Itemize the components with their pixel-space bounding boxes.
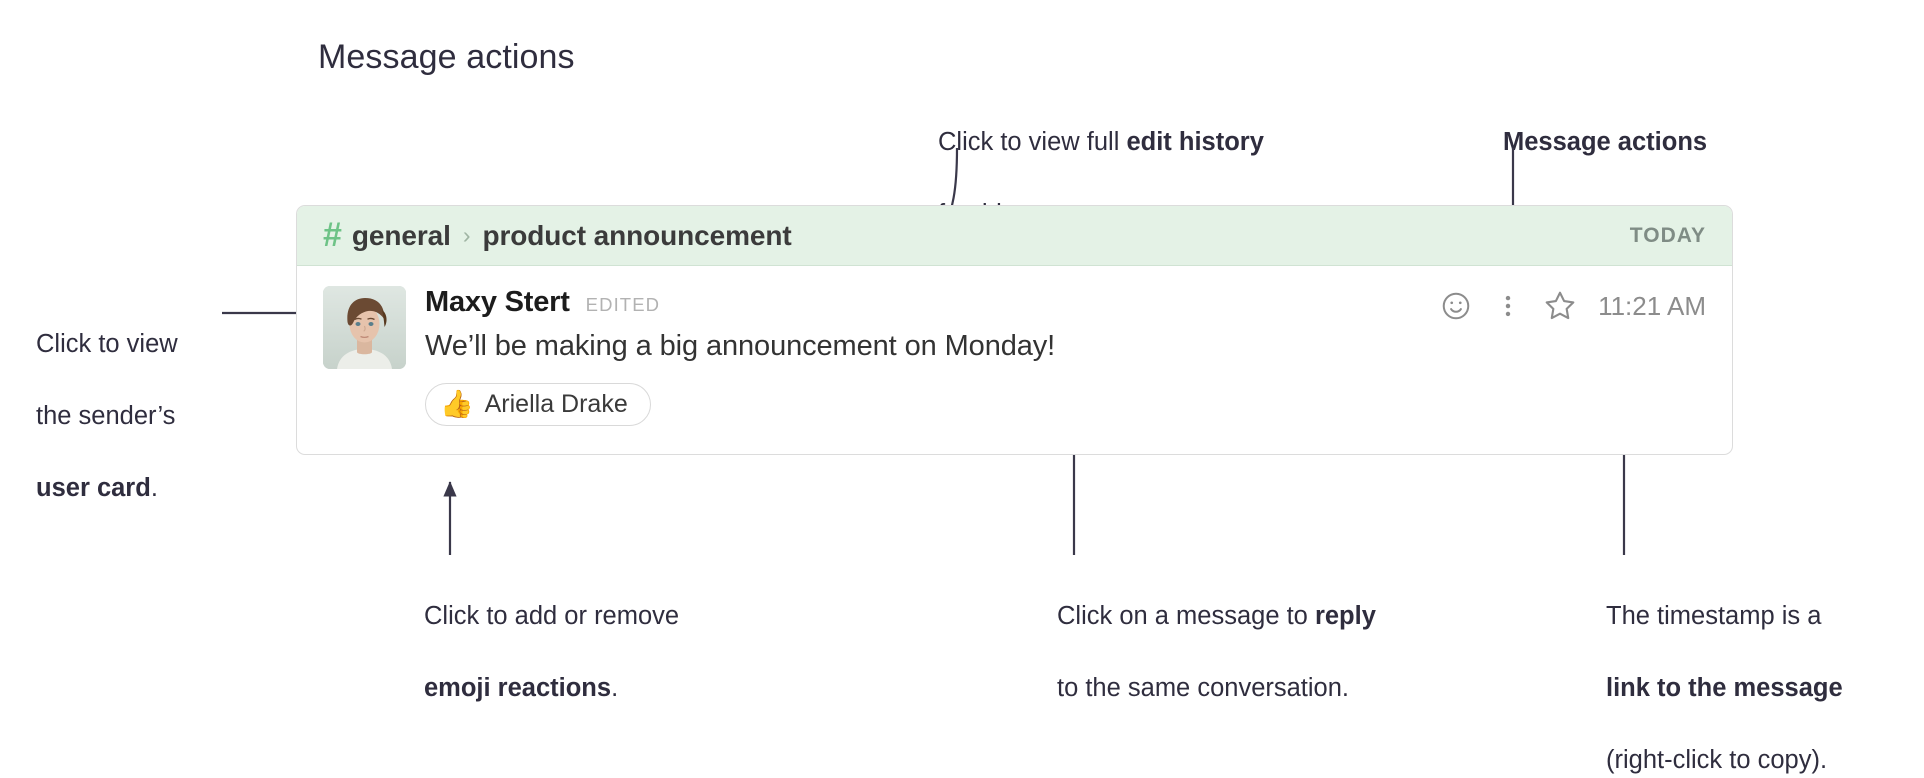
breadcrumb-topic-name[interactable]: product announcement bbox=[483, 220, 792, 252]
message-timestamp-link[interactable]: 11:21 AM bbox=[1598, 291, 1706, 322]
reaction-pill[interactable]: 👍 Ariella Drake bbox=[425, 383, 651, 426]
message-card: # general › product announcement TODAY bbox=[296, 205, 1733, 455]
breadcrumb-stream-name[interactable]: general bbox=[352, 220, 451, 252]
emoji-reaction-icon[interactable] bbox=[1430, 284, 1482, 328]
hash-icon: # bbox=[323, 218, 342, 252]
edited-badge[interactable]: EDITED bbox=[586, 294, 660, 316]
annotation-reply: Click on a message to reply to the same … bbox=[1057, 562, 1457, 706]
stream-topic-header: # general › product announcement TODAY bbox=[297, 206, 1732, 266]
annotation-edit-history-line1: Click to view full bbox=[938, 128, 1126, 156]
reaction-label: Ariella Drake bbox=[485, 390, 628, 419]
avatar[interactable] bbox=[323, 286, 406, 369]
annotation-user-card: Click to view the sender’s user card. bbox=[36, 290, 266, 506]
thumbs-up-icon: 👍 bbox=[440, 391, 474, 418]
message-actions-group: 11:21 AM bbox=[1430, 284, 1706, 328]
vertical-ellipsis-icon[interactable] bbox=[1482, 284, 1534, 328]
sender-name[interactable]: Maxy Stert bbox=[425, 286, 570, 319]
date-label-today: TODAY bbox=[1630, 224, 1706, 248]
annotation-timestamp-line1: The timestamp is a bbox=[1606, 602, 1821, 630]
chevron-right-icon: › bbox=[463, 222, 471, 249]
page-title: Message actions bbox=[318, 38, 575, 77]
avatar-photo bbox=[323, 286, 406, 369]
annotation-message-actions-bold: Message actions bbox=[1503, 128, 1707, 156]
message-body-text[interactable]: We’ll be making a big announcement on Mo… bbox=[425, 330, 1706, 363]
annotation-user-card-line3-bold: user card bbox=[36, 474, 151, 502]
annotation-timestamp-line3: (right-click to copy). bbox=[1606, 746, 1827, 774]
annotation-user-card-line3-tail: . bbox=[151, 474, 158, 502]
annotation-emoji-tail: . bbox=[611, 674, 618, 702]
annotation-user-card-line2: the sender’s bbox=[36, 402, 175, 430]
star-outline-icon[interactable] bbox=[1534, 284, 1586, 328]
annotation-reply-bold: reply bbox=[1315, 602, 1376, 630]
annotation-emoji-reactions: Click to add or remove emoji reactions. bbox=[424, 562, 764, 706]
annotation-emoji-line1: Click to add or remove bbox=[424, 602, 679, 630]
annotation-reply-line1: Click on a message to bbox=[1057, 602, 1315, 630]
reactions-row: 👍 Ariella Drake bbox=[297, 369, 1732, 426]
annotation-reply-line2: to the same conversation. bbox=[1057, 674, 1349, 702]
annotation-timestamp-bold: link to the message bbox=[1606, 674, 1843, 702]
annotation-user-card-line1: Click to view bbox=[36, 330, 178, 358]
message-row[interactable]: Maxy Stert EDITED We’ll be making a big … bbox=[297, 266, 1732, 369]
annotation-edit-history-bold: edit history bbox=[1126, 128, 1263, 156]
annotation-emoji-bold: emoji reactions bbox=[424, 674, 611, 702]
annotation-timestamp: The timestamp is a link to the message (… bbox=[1606, 562, 1916, 778]
